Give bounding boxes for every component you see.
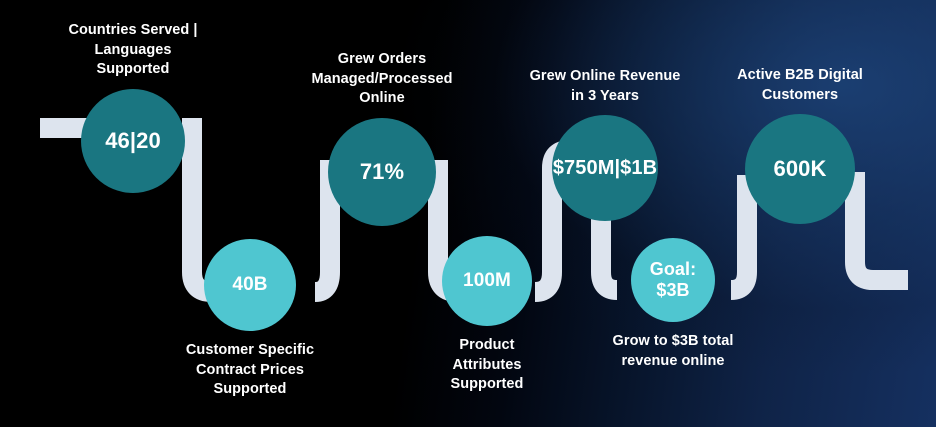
metric-label-orders-online: Grew Orders Managed/Processed Online (277, 50, 487, 109)
infographic-canvas: 46|2040B71%100M$750M|$1BGoal: $3B600K Co… (0, 0, 936, 427)
metric-label-product-attributes: Product Attributes Supported (382, 336, 592, 395)
metric-labels: Countries Served | Languages SupportedCu… (0, 0, 936, 427)
metric-label-contract-prices: Customer Specific Contract Prices Suppor… (145, 341, 355, 400)
metric-label-b2b-customers: Active B2B Digital Customers (695, 66, 905, 105)
metric-label-countries-languages: Countries Served | Languages Supported (28, 21, 238, 80)
metric-label-revenue-goal: Grow to $3B total revenue online (568, 332, 778, 371)
metric-label-online-revenue: Grew Online Revenue in 3 Years (500, 67, 710, 106)
